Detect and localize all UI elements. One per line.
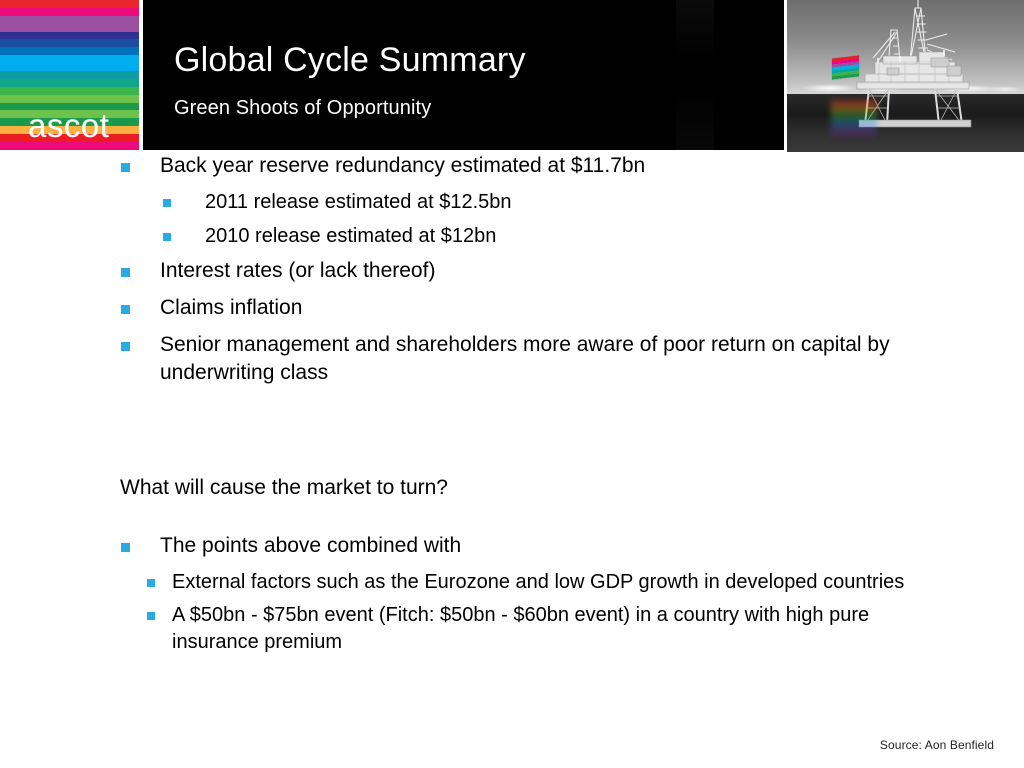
logo-stripe-0	[0, 0, 139, 8]
bullet-item: Back year reserve redundancy estimated a…	[121, 152, 954, 180]
bullet-text: The points above combined with	[160, 532, 954, 560]
logo-stripe-8	[0, 63, 139, 71]
bullet-item: A $50bn - $75bn event (Fitch: $50bn - $6…	[147, 602, 944, 656]
bullet-marker-icon	[121, 342, 130, 351]
bullet-marker-icon	[147, 612, 155, 620]
bullet-text: Back year reserve redundancy estimated a…	[160, 152, 954, 180]
bullet-marker-icon	[121, 305, 130, 314]
logo-stripe-5	[0, 39, 139, 47]
bullet-text: 2011 release estimated at $12.5bn	[205, 189, 944, 216]
page-subtitle: Green Shoots of Opportunity	[174, 97, 431, 120]
bullet-text: External factors such as the Eurozone an…	[172, 569, 944, 596]
bullet-marker-icon	[163, 233, 171, 241]
bullet-marker-icon	[121, 268, 130, 277]
logo-stripe-6	[0, 47, 139, 55]
logo-stripe-11	[0, 87, 139, 95]
logo-stripe-3	[0, 24, 139, 32]
bullet-text: Claims inflation	[160, 294, 954, 322]
logo-stripe-12	[0, 95, 139, 103]
bullet-marker-icon	[121, 543, 130, 552]
bullet-item: Claims inflation	[121, 294, 954, 322]
slide-body: Back year reserve redundancy estimated a…	[0, 152, 1024, 768]
logo-stripe-10	[0, 79, 139, 87]
rainbow-flag-accent	[832, 55, 859, 79]
source-note: Source: Aon Benfield	[880, 738, 994, 752]
bullet-text: 2010 release estimated at $12bn	[205, 223, 944, 250]
logo-stripe-4	[0, 32, 139, 40]
logo-stripe-1	[0, 8, 139, 16]
bullet-item: The points above combined with	[121, 532, 954, 560]
bullet-text: Interest rates (or lack thereof)	[160, 257, 954, 285]
bullet-group-top: Back year reserve redundancy estimated a…	[0, 152, 1024, 396]
bullet-item: Interest rates (or lack thereof)	[121, 257, 954, 285]
bullet-item: 2010 release estimated at $12bn	[163, 223, 944, 250]
bullet-text: Senior management and shareholders more …	[160, 331, 954, 387]
bullet-item: 2011 release estimated at $12.5bn	[163, 189, 944, 216]
logo-stripe-7	[0, 55, 139, 63]
logo-wordmark: ascot	[28, 109, 109, 142]
bullet-marker-icon	[147, 579, 155, 587]
logo-stripe-2	[0, 16, 139, 24]
bullet-marker-icon	[163, 199, 171, 207]
offshore-oil-rig-photo	[787, 0, 1024, 152]
ascot-logo: ascot	[0, 0, 139, 150]
logo-stripe-9	[0, 71, 139, 79]
bullet-text: A $50bn - $75bn event (Fitch: $50bn - $6…	[172, 602, 944, 656]
bullet-item: Senior management and shareholders more …	[121, 331, 954, 387]
oil-rig-icon	[787, 0, 1024, 152]
question-line: What will cause the market to turn?	[120, 474, 448, 502]
page-title: Global Cycle Summary	[174, 41, 526, 80]
slide-header: ascot Global Cycle Summary Green Shoots …	[0, 0, 1024, 152]
bullet-group-lower: The points above combined withExternal f…	[0, 532, 1024, 662]
title-bar: Global Cycle Summary Green Shoots of Opp…	[143, 0, 784, 150]
rainbow-reflection	[831, 100, 877, 140]
bullet-marker-icon	[121, 163, 130, 172]
bullet-item: External factors such as the Eurozone an…	[147, 569, 944, 596]
title-bar-sheen	[676, 0, 714, 150]
